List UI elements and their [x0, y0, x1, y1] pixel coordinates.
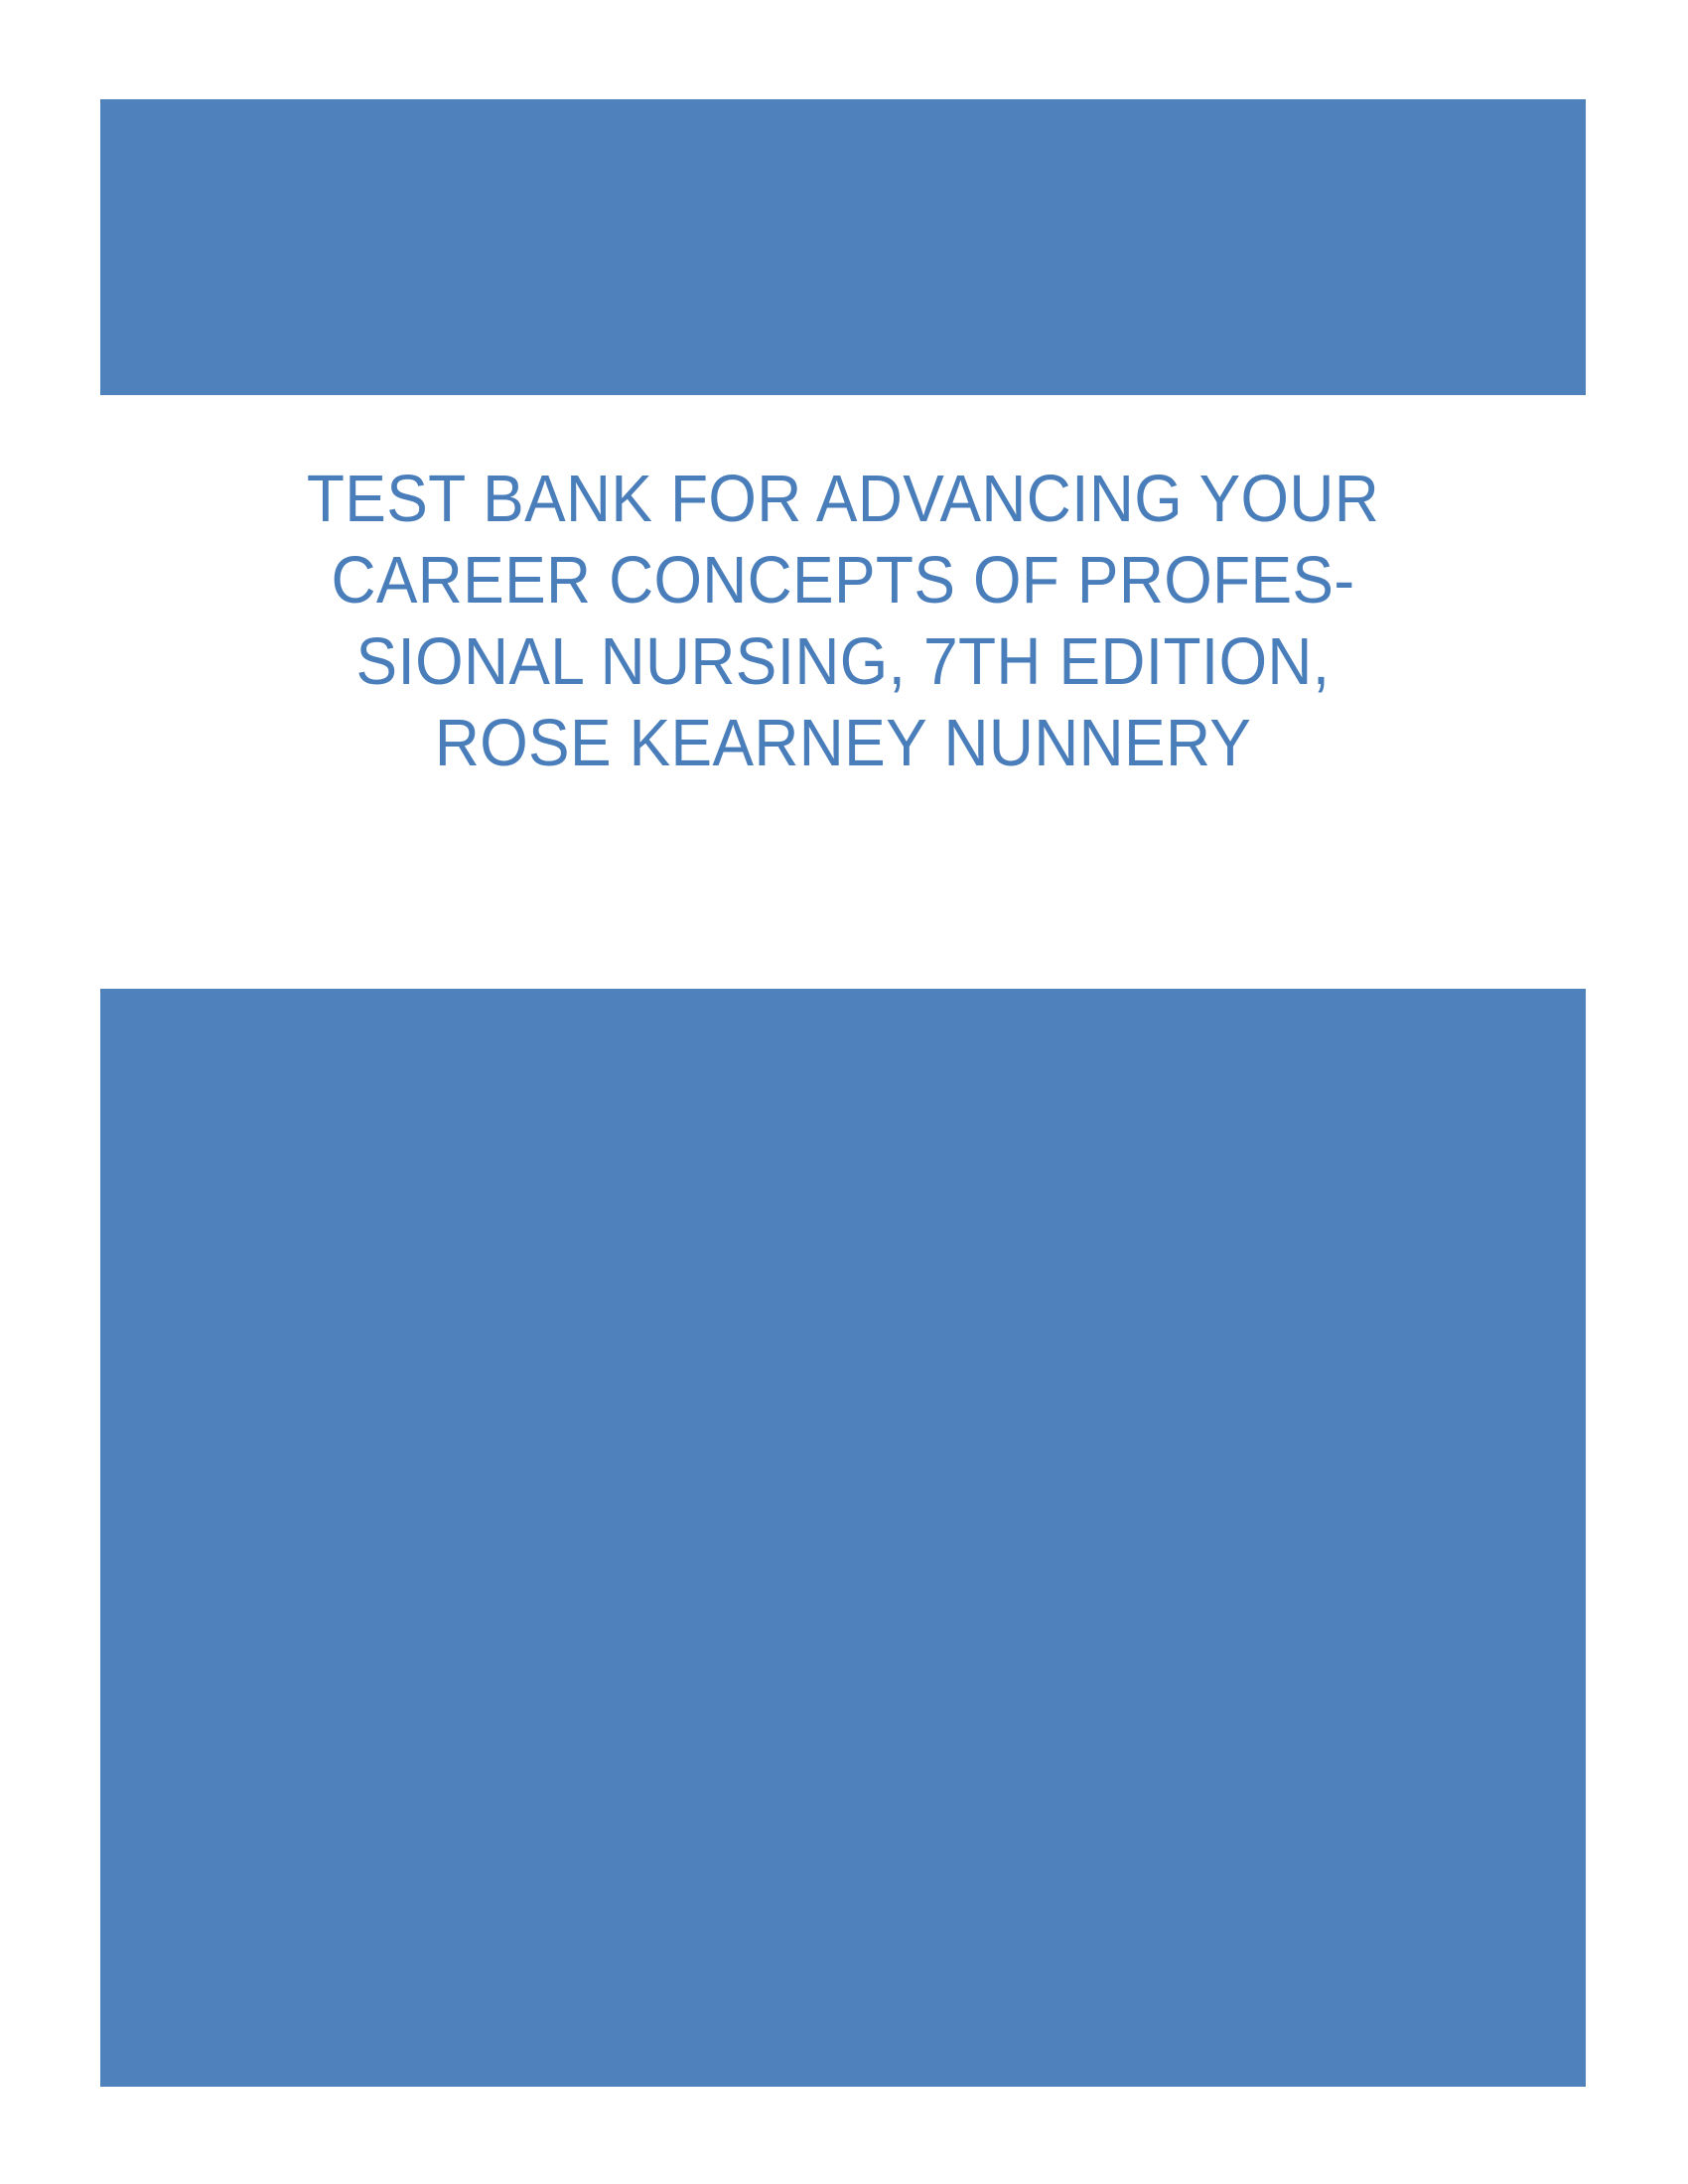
title-line-1: TEST BANK FOR ADVANCING YOUR	[152, 459, 1533, 540]
top-color-band	[100, 99, 1586, 395]
title-line-4: ROSE KEARNEY NUNNERY	[152, 703, 1533, 784]
title-line-2: CAREER CONCEPTS OF PROFES-	[152, 540, 1533, 621]
title-line-3: SIONAL NURSING, 7TH EDITION,	[152, 621, 1533, 703]
page-title: TEST BANK FOR ADVANCING YOUR CAREER CONC…	[100, 459, 1586, 955]
document-cover-page: TEST BANK FOR ADVANCING YOUR CAREER CONC…	[0, 0, 1688, 2184]
bottom-color-band	[100, 989, 1586, 2087]
